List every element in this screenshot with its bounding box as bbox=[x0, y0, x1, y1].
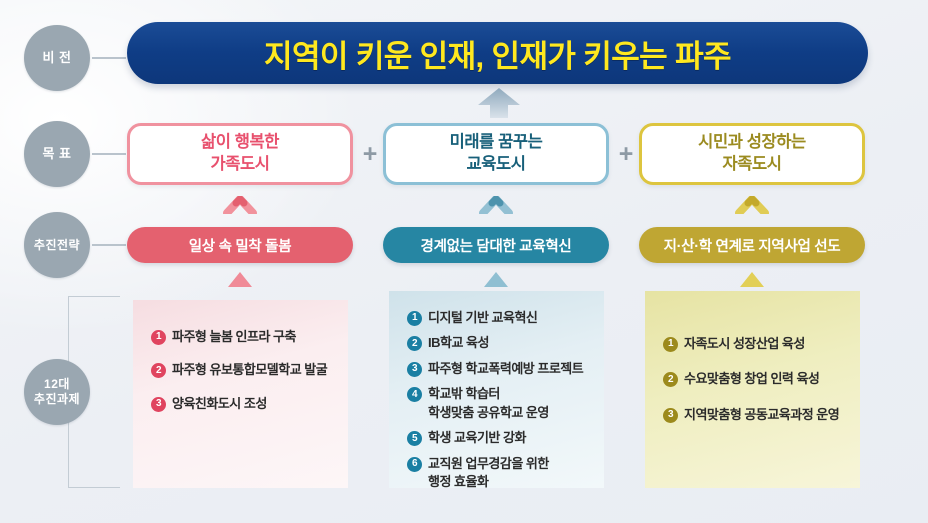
plus-separator-2: + bbox=[611, 142, 641, 167]
task-number-badge: 3 bbox=[151, 397, 166, 412]
rail-label-strategy-text: 추진전략 bbox=[34, 238, 80, 253]
plus-separator-1: + bbox=[355, 142, 385, 167]
rail-label-goal: 목 표 bbox=[24, 121, 90, 187]
task-number-badge: 2 bbox=[407, 336, 422, 351]
task-number-badge: 5 bbox=[407, 431, 422, 446]
rail-label-tasks: 12대 추진과제 bbox=[24, 359, 90, 425]
task-number-badge: 1 bbox=[663, 337, 678, 352]
strategy-pill-education-innovation[interactable]: 경계없는 담대한 교육혁신 bbox=[383, 227, 609, 263]
task-label: 파주형 학교폭력예방 프로젝트 bbox=[428, 360, 590, 378]
task-list-1: 1 파주형 늘봄 인프라 구축 2 파주형 유보통합모델학교 발굴 3 양육친화… bbox=[151, 328, 334, 413]
strategy-1-label: 일상 속 밀착 돌봄 bbox=[189, 235, 291, 256]
task-item[interactable]: 2 파주형 유보통합모델학교 발굴 bbox=[151, 361, 334, 379]
task-label: IB학교 육성 bbox=[428, 334, 590, 352]
goal-box-family-city[interactable]: 삶이 행복한 가족도시 bbox=[127, 123, 353, 185]
task-item[interactable]: 3 지역맞춤형 공동교육과정 운영 bbox=[663, 406, 846, 424]
task-panel-selfsufficient-city: 1 자족도시 성장산업 육성 2 수요맞춤형 창업 인력 육성 3 지역맞춤형 … bbox=[645, 291, 860, 488]
task-label: 학생 교육기반 강화 bbox=[428, 429, 590, 447]
goal-box-education-city[interactable]: 미래를 꿈꾸는 교육도시 bbox=[383, 123, 609, 185]
goal-1-line1: 삶이 행복한 bbox=[201, 132, 279, 154]
goal-1-line2: 가족도시 bbox=[201, 154, 279, 176]
task-label-line2: 행정 효율화 bbox=[428, 473, 590, 491]
chevron-up-icon-3 bbox=[735, 196, 769, 214]
goal-3-line1: 시민과 성장하는 bbox=[698, 132, 806, 154]
task-label: 파주형 늘봄 인프라 구축 bbox=[172, 328, 334, 346]
arrow-up-to-vision bbox=[478, 88, 520, 118]
task-item[interactable]: 3 파주형 학교폭력예방 프로젝트 bbox=[407, 360, 590, 378]
chevron-up-icon-1 bbox=[223, 196, 257, 214]
vision-banner: 지역이 키운 인재, 인재가 키우는 파주 bbox=[127, 22, 868, 84]
strategy-3-label: 지·산·학 연계로 지역사업 선도 bbox=[664, 235, 841, 256]
rail-label-tasks-line1: 12대 bbox=[34, 377, 80, 392]
strategy-pill-industry-academia[interactable]: 지·산·학 연계로 지역사업 선도 bbox=[639, 227, 865, 263]
chevron-up-icon-2 bbox=[479, 196, 513, 214]
task-label: 교직원 업무경감을 위한 행정 효율화 bbox=[428, 455, 590, 492]
task-label: 디지털 기반 교육혁신 bbox=[428, 309, 590, 327]
task-number-badge: 3 bbox=[663, 408, 678, 423]
task-item[interactable]: 4 학교밖 학습터 학생맞춤 공유학교 운영 bbox=[407, 385, 590, 422]
task-item[interactable]: 6 교직원 업무경감을 위한 행정 효율화 bbox=[407, 455, 590, 492]
goal-2-line2: 교육도시 bbox=[450, 154, 543, 176]
task-label-line1: 학교밖 학습터 bbox=[428, 386, 500, 401]
rail-connector-vision bbox=[92, 57, 126, 59]
task-number-badge: 4 bbox=[407, 387, 422, 402]
task-item[interactable]: 1 디지털 기반 교육혁신 bbox=[407, 309, 590, 327]
task-number-badge: 6 bbox=[407, 457, 422, 472]
task-item[interactable]: 2 IB학교 육성 bbox=[407, 334, 590, 352]
task-number-badge: 2 bbox=[663, 372, 678, 387]
task-number-badge: 2 bbox=[151, 363, 166, 378]
rail-label-strategy: 추진전략 bbox=[24, 212, 90, 278]
goal-2-line1: 미래를 꿈꾸는 bbox=[450, 132, 543, 154]
strategy-2-label: 경계없는 담대한 교육혁신 bbox=[421, 235, 572, 256]
task-item[interactable]: 1 자족도시 성장산업 육성 bbox=[663, 335, 846, 353]
task-number-badge: 1 bbox=[151, 330, 166, 345]
task-item[interactable]: 2 수요맞춤형 창업 인력 육성 bbox=[663, 370, 846, 388]
task-label: 양육친화도시 조성 bbox=[172, 395, 334, 413]
rail-label-vision-text: 비 전 bbox=[42, 50, 71, 66]
diagram-canvas: 비 전 목 표 추진전략 12대 추진과제 지역이 키운 인재, 인재가 키우는… bbox=[0, 0, 928, 523]
triangle-up-icon-2 bbox=[484, 272, 508, 287]
task-label: 파주형 유보통합모델학교 발굴 bbox=[172, 361, 334, 379]
rail-label-goal-text: 목 표 bbox=[42, 146, 71, 162]
task-panel-family-city: 1 파주형 늘봄 인프라 구축 2 파주형 유보통합모델학교 발굴 3 양육친화… bbox=[133, 300, 348, 488]
task-label: 학교밖 학습터 학생맞춤 공유학교 운영 bbox=[428, 385, 590, 422]
task-label: 지역맞춤형 공동교육과정 운영 bbox=[684, 406, 846, 424]
rail-connector-strategy bbox=[92, 244, 126, 246]
rail-connector-goal bbox=[92, 153, 126, 155]
task-number-badge: 1 bbox=[407, 311, 422, 326]
task-list-3: 1 자족도시 성장산업 육성 2 수요맞춤형 창업 인력 육성 3 지역맞춤형 … bbox=[663, 335, 846, 424]
task-label: 자족도시 성장산업 육성 bbox=[684, 335, 846, 353]
task-label-line2: 학생맞춤 공유학교 운영 bbox=[428, 404, 590, 422]
rail-label-vision: 비 전 bbox=[24, 25, 90, 91]
vision-text: 지역이 키운 인재, 인재가 키우는 파주 bbox=[264, 31, 731, 76]
task-label-line1: 교직원 업무경감을 위한 bbox=[428, 456, 549, 471]
goal-3-line2: 자족도시 bbox=[698, 154, 806, 176]
strategy-pill-care[interactable]: 일상 속 밀착 돌봄 bbox=[127, 227, 353, 263]
triangle-up-icon-1 bbox=[228, 272, 252, 287]
rail-label-tasks-line2: 추진과제 bbox=[34, 392, 80, 407]
task-panel-education-city: 1 디지털 기반 교육혁신 2 IB학교 육성 3 파주형 학교폭력예방 프로젝… bbox=[389, 291, 604, 488]
goal-box-selfsufficient-city[interactable]: 시민과 성장하는 자족도시 bbox=[639, 123, 865, 185]
task-item[interactable]: 1 파주형 늘봄 인프라 구축 bbox=[151, 328, 334, 346]
triangle-up-icon-3 bbox=[740, 272, 764, 287]
task-item[interactable]: 5 학생 교육기반 강화 bbox=[407, 429, 590, 447]
task-number-badge: 3 bbox=[407, 362, 422, 377]
task-label: 수요맞춤형 창업 인력 육성 bbox=[684, 370, 846, 388]
task-list-2: 1 디지털 기반 교육혁신 2 IB학교 육성 3 파주형 학교폭력예방 프로젝… bbox=[407, 309, 590, 492]
task-item[interactable]: 3 양육친화도시 조성 bbox=[151, 395, 334, 413]
